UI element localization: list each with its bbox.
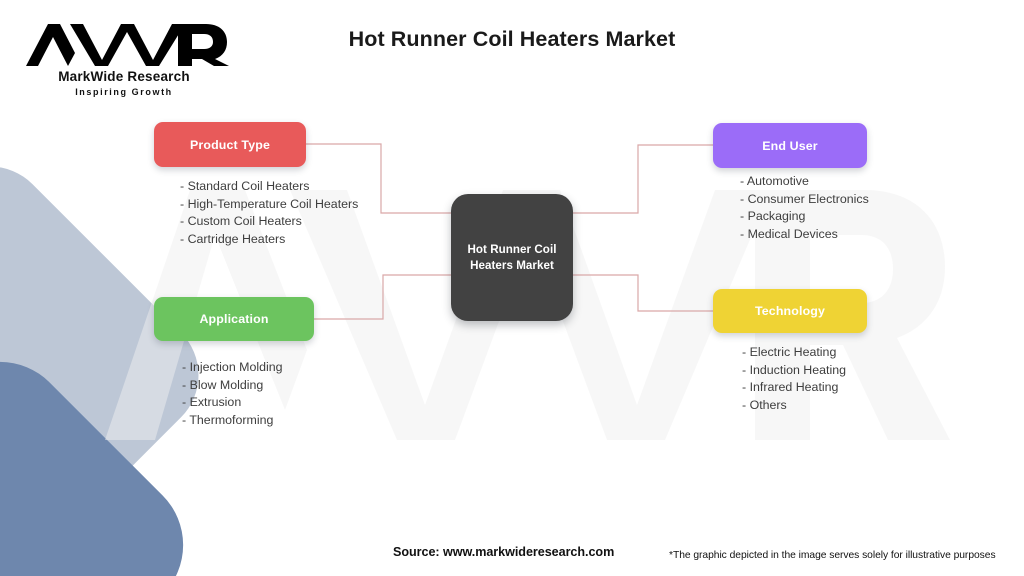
center-node[interactable]: Hot Runner CoilHeaters Market: [451, 194, 573, 321]
footer-source: Source: www.markwideresearch.com: [393, 545, 614, 559]
branch-label-application: Application: [199, 312, 268, 326]
list-item: - Packaging: [740, 208, 869, 226]
list-item: - Automotive: [740, 173, 869, 191]
item-list-application: - Injection Molding - Blow Molding - Ext…: [182, 359, 283, 430]
list-item: - Standard Coil Heaters: [180, 178, 358, 196]
list-item: - Blow Molding: [182, 377, 283, 395]
list-item: - Injection Molding: [182, 359, 283, 377]
list-item: - Custom Coil Heaters: [180, 213, 358, 231]
list-item: - Thermoforming: [182, 412, 283, 430]
list-item: - Consumer Electronics: [740, 191, 869, 209]
list-item: - Induction Heating: [742, 362, 846, 380]
center-node-label: Hot Runner CoilHeaters Market: [468, 242, 557, 273]
branch-node-application[interactable]: Application: [154, 297, 314, 341]
footer-disclaimer: *The graphic depicted in the image serve…: [669, 550, 996, 561]
connector-application: [314, 275, 451, 319]
logo-tagline: Inspiring Growth: [18, 87, 230, 97]
list-item: - Electric Heating: [742, 344, 846, 362]
branch-node-end-user[interactable]: End User: [713, 123, 867, 168]
branch-label-technology: Technology: [755, 304, 825, 318]
branch-label-product-type: Product Type: [190, 138, 270, 152]
item-list-end-user: - Automotive - Consumer Electronics - Pa…: [740, 173, 869, 244]
logo-company-name: MarkWide Research: [18, 69, 230, 84]
diagram-canvas: MarkWide Research Inspiring Growth Hot R…: [0, 0, 1024, 576]
branch-node-technology[interactable]: Technology: [713, 289, 867, 333]
list-item: - High-Temperature Coil Heaters: [180, 196, 358, 214]
item-list-technology: - Electric Heating - Induction Heating -…: [742, 344, 846, 415]
list-item: - Infrared Heating: [742, 379, 846, 397]
page-title: Hot Runner Coil Heaters Market: [0, 27, 1024, 52]
branch-label-end-user: End User: [762, 139, 818, 153]
list-item: - Others: [742, 397, 846, 415]
connector-technology: [573, 275, 713, 311]
list-item: - Cartridge Heaters: [180, 231, 358, 249]
list-item: - Medical Devices: [740, 226, 869, 244]
list-item: - Extrusion: [182, 394, 283, 412]
item-list-product-type: - Standard Coil Heaters - High-Temperatu…: [180, 178, 358, 249]
connector-end-user: [573, 145, 713, 213]
branch-node-product-type[interactable]: Product Type: [154, 122, 306, 167]
